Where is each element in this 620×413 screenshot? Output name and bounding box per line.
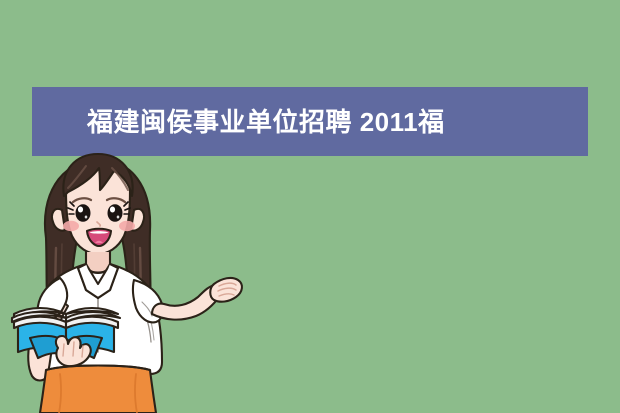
page-title: 福建闽侯事业单位招聘 2011福 xyxy=(87,109,445,135)
screenshot-canvas: 福建闽侯事业单位招聘 2011福 xyxy=(0,0,620,413)
student-girl-illustration xyxy=(0,152,300,413)
title-banner: 福建闽侯事业单位招聘 2011福 xyxy=(32,87,588,156)
